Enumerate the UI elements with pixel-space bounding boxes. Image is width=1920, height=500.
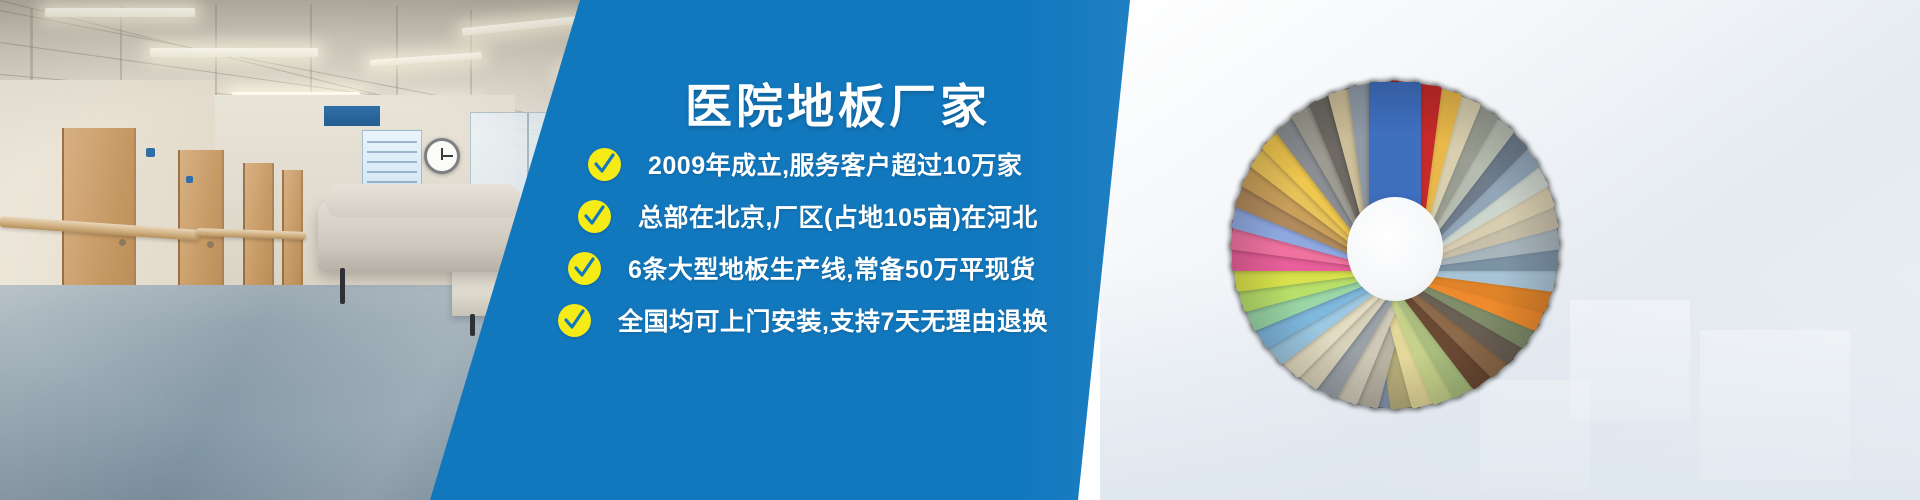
check-circle-icon: [568, 252, 601, 285]
check-circle-icon: [588, 148, 621, 181]
list-item-label: 2009年成立,服务客户超过10万家: [648, 146, 1022, 182]
feature-list: 2009年成立,服务客户超过10万家 总部在北京,厂区(占地105亩)在河北 6…: [430, 138, 1130, 346]
check-circle-icon: [558, 304, 591, 337]
fan-center-hub: [1347, 197, 1443, 301]
list-item: 2009年成立,服务客户超过10万家: [430, 138, 1130, 190]
list-item-label: 全国均可上门安装,支持7天无理由退换: [618, 302, 1048, 338]
panel-content: 医院地板厂家 2009年成立,服务客户超过10万家 总部在北京,厂区(占地105…: [430, 0, 1130, 500]
list-item-label: 总部在北京,厂区(占地105亩)在河北: [638, 198, 1038, 234]
pvc-floor-samples-fan: [1180, 30, 1610, 460]
list-item: 总部在北京,厂区(占地105亩)在河北: [430, 190, 1130, 242]
list-item: 全国均可上门安装,支持7天无理由退换: [430, 294, 1130, 346]
check-circle-icon: [578, 200, 611, 233]
page-title: 医院地板厂家: [685, 68, 1105, 137]
hospital-floor-banner: 医院地板厂家 2009年成立,服务客户超过10万家 总部在北京,厂区(占地105…: [0, 0, 1920, 500]
list-item: 6条大型地板生产线,常备50万平现货: [430, 242, 1130, 294]
list-item-label: 6条大型地板生产线,常备50万平现货: [628, 250, 1036, 286]
